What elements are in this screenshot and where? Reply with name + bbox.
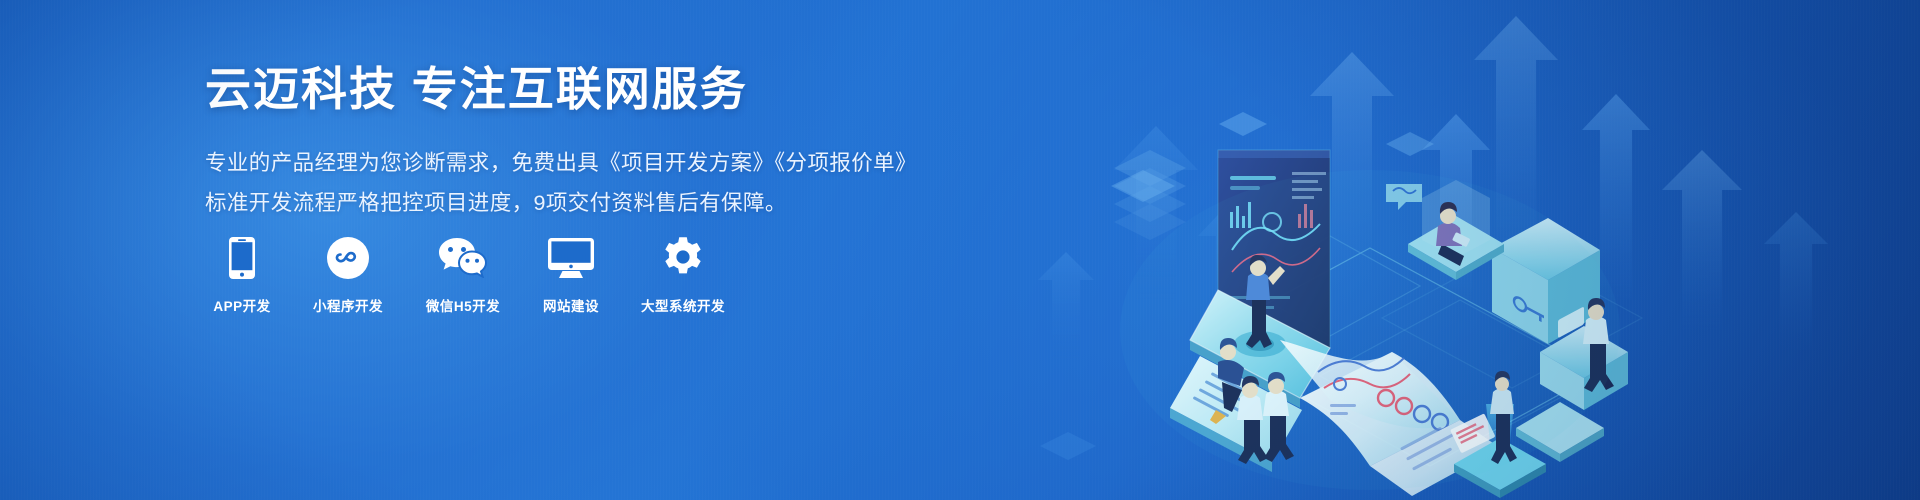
hero-illustration: [900, 0, 1920, 500]
hero-subtitle: 专业的产品经理为您诊断需求，免费出具《项目开发方案》《分项报价单》 标准开发流程…: [205, 145, 945, 223]
service-list: APP开发 小程序开发 微信: [205, 233, 733, 315]
subtitle-line-2: 标准开发流程严格把控项目进度，9项交付资料售后有保障。: [205, 185, 945, 222]
mini-program-icon: [327, 233, 369, 283]
service-label: 小程序开发: [313, 295, 383, 315]
gear-icon: [661, 233, 705, 283]
service-label: 微信H5开发: [426, 295, 500, 315]
service-item-mini-program[interactable]: 小程序开发: [303, 233, 393, 315]
hero-banner: 云迈科技 专注互联网服务 专业的产品经理为您诊断需求，免费出具《项目开发方案》《…: [0, 0, 1920, 500]
service-label: APP开发: [213, 295, 270, 315]
mobile-phone-icon: [229, 233, 255, 283]
service-item-app[interactable]: APP开发: [205, 233, 279, 315]
service-item-wechat-h5[interactable]: 微信H5开发: [417, 233, 509, 315]
service-item-large-system[interactable]: 大型系统开发: [633, 233, 733, 315]
desktop-monitor-icon: [548, 233, 594, 283]
subtitle-line-1: 专业的产品经理为您诊断需求，免费出具《项目开发方案》《分项报价单》: [205, 145, 945, 182]
hero-copy: 云迈科技 专注互联网服务 专业的产品经理为您诊断需求，免费出具《项目开发方案》《…: [205, 60, 945, 223]
service-item-website[interactable]: 网站建设: [533, 233, 609, 315]
service-label: 网站建设: [543, 295, 599, 315]
wechat-icon: [439, 233, 487, 283]
service-label: 大型系统开发: [641, 295, 725, 315]
page-title: 云迈科技 专注互联网服务: [205, 60, 945, 119]
